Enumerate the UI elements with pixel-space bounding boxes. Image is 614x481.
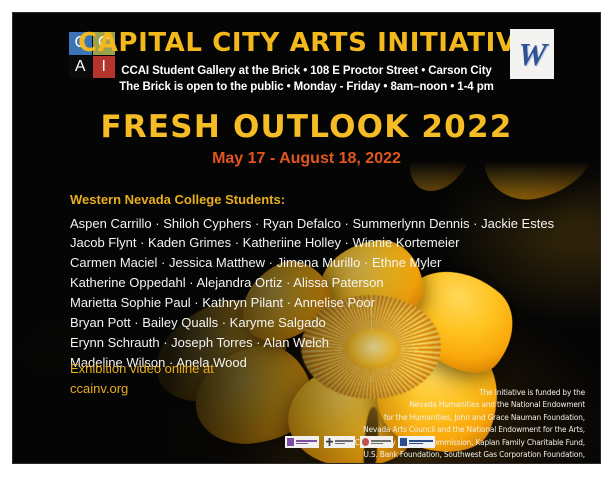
student-list-line: Katherine Oppedahl · Alejandra Ortiz · A… (70, 273, 570, 293)
student-list: Western Nevada College Students: Aspen C… (70, 192, 570, 373)
student-list-line: Marietta Sophie Paul · Kathryn Pilant · … (70, 293, 570, 313)
exhibition-video-url[interactable]: ccainv.org (70, 379, 214, 399)
poster: C C A I CAPITAL CITY ARTS INITIATIVE CCA… (13, 13, 600, 463)
sponsor-wordmark (296, 440, 317, 444)
exhibition-dates: May 17 - August 18, 2022 (13, 151, 600, 167)
funding-line: Steele & Associates LLC, and CCAI sponso… (285, 461, 585, 463)
student-list-line: Bryan Pott · Bailey Qualls · Karyme Salg… (70, 313, 570, 333)
sponsor-logo-3 (360, 436, 393, 448)
funding-line: U.S. Bank Foundation, Southwest Gas Corp… (285, 448, 585, 460)
funding-line: Nevada Humanities and the National Endow… (285, 398, 585, 410)
student-list-line: Carmen Maciel · Jessica Matthew · Jimena… (70, 253, 570, 273)
funding-line: Nevada Arts Council and the National End… (285, 423, 585, 435)
sponsor-mark-icon (362, 438, 369, 446)
wnc-logo: W (510, 29, 554, 79)
sponsor-logo-strip (285, 436, 435, 448)
sponsor-logo-4 (398, 436, 435, 448)
sponsor-mark-icon (287, 438, 294, 446)
header: C C A I CAPITAL CITY ARTS INITIATIVE CCA… (13, 21, 600, 83)
sponsor-logo-1 (285, 436, 319, 448)
exhibition-video-label: Exhibition video online at (70, 359, 214, 379)
exhibition-title: FRESH OUTLOOK 2022 (13, 112, 600, 143)
exhibition-video-note: Exhibition video online at ccainv.org (70, 359, 214, 399)
wnc-logo-mark: W (517, 36, 547, 73)
sponsor-wordmark (335, 440, 353, 444)
funding-credits: The Initiative is funded by the Nevada H… (285, 386, 585, 463)
sponsor-logo-2 (324, 436, 355, 448)
sponsor-wordmark (409, 440, 433, 444)
funding-line: for the Humanities, John and Grace Nauma… (285, 411, 585, 423)
student-list-line: Aspen Carrillo · Shiloh Cyphers · Ryan D… (70, 214, 570, 234)
poster-content: C C A I CAPITAL CITY ARTS INITIATIVE CCA… (13, 13, 600, 463)
sponsor-mark-icon (326, 438, 333, 446)
hours-line: The Brick is open to the public • Monday… (13, 79, 600, 95)
sponsor-mark-icon (400, 438, 407, 446)
student-list-heading: Western Nevada College Students: (70, 192, 570, 208)
student-list-line: Jacob Flynt · Kaden Grimes · Katheriine … (70, 233, 570, 253)
sponsor-wordmark (371, 440, 391, 444)
funding-line: The Initiative is funded by the (285, 386, 585, 398)
student-list-line: Erynn Schrauth · Joseph Torres · Alan We… (70, 333, 570, 353)
